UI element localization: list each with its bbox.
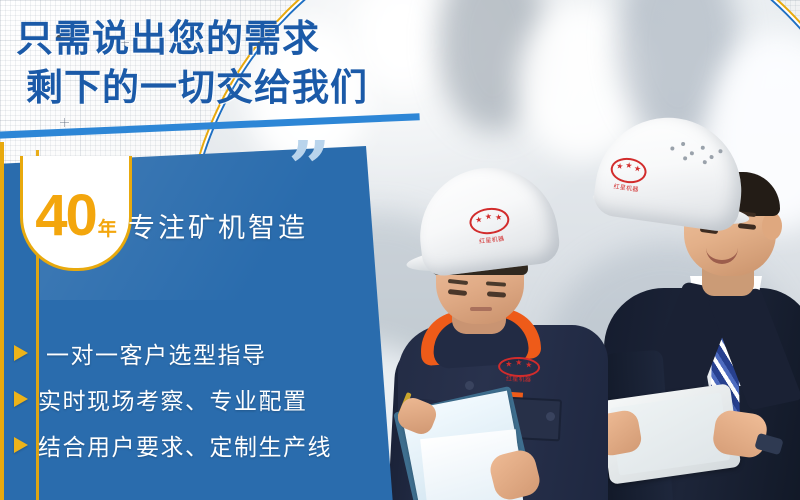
manager-helmet-logo: ★ ★ ★ 红星机器	[608, 156, 648, 195]
tagline: 专注矿机智造	[128, 206, 308, 245]
list-item-label: 结合用户要求、定制生产线	[38, 428, 332, 462]
arrow-right-icon	[14, 391, 28, 407]
logo-star-mid: ★	[625, 162, 633, 171]
arrow-right-icon	[14, 345, 28, 361]
logo-star-mid: ★	[515, 359, 522, 367]
headline-line-2: 剩下的一切交给我们	[16, 63, 368, 112]
worker-button-1	[465, 381, 474, 390]
feature-list: 一对一客户选型指导 实时现场考察、专业配置 结合用户要求、定制生产线	[14, 330, 332, 468]
company-logo-icon: ★ ★ ★ 红星机器	[468, 206, 512, 247]
list-item-label: 实时现场考察、专业配置	[38, 382, 308, 416]
headline: 只需说出您的需求 剩下的一切交给我们	[16, 14, 368, 112]
logo-star-left: ★	[475, 216, 483, 225]
list-item: 结合用户要求、定制生产线	[14, 422, 332, 468]
company-logo-icon: ★ ★ ★ 红星机器	[498, 356, 541, 383]
quote-mark-icon: ”	[288, 132, 333, 206]
logo-star-right: ★	[495, 213, 503, 222]
logo-star-left: ★	[505, 361, 512, 369]
worker-helmet-logo: ★ ★ ★ 红星机器	[468, 206, 512, 247]
headline-line-1: 只需说出您的需求	[16, 14, 368, 63]
worker-button-2	[546, 412, 555, 421]
arrow-right-icon	[14, 437, 28, 453]
list-item: 一对一客户选型指导	[14, 330, 332, 376]
worker-mouth	[470, 307, 492, 311]
promo-banner: ★ ★ ★ 红星机器	[0, 0, 800, 500]
years-number: 40	[35, 187, 96, 245]
logo-star-right: ★	[525, 361, 532, 369]
worker-chest-logo: ★ ★ ★ 红星机器	[498, 356, 541, 383]
blur-highlight-2	[358, 0, 448, 92]
logo-star-right: ★	[633, 165, 641, 174]
logo-star-left: ★	[616, 162, 624, 171]
years-unit: 年	[98, 214, 117, 241]
manager-ear	[762, 212, 782, 240]
list-item-label: 一对一客户选型指导	[38, 336, 267, 370]
logo-star-mid: ★	[484, 213, 492, 222]
company-logo-icon: ★ ★ ★ 红星机器	[608, 156, 648, 195]
logo-text: 红星机器	[498, 373, 540, 383]
list-item: 实时现场考察、专业配置	[14, 376, 332, 422]
years-badge: 40 年	[20, 156, 132, 271]
panel-gold-edge-outer	[0, 142, 4, 500]
